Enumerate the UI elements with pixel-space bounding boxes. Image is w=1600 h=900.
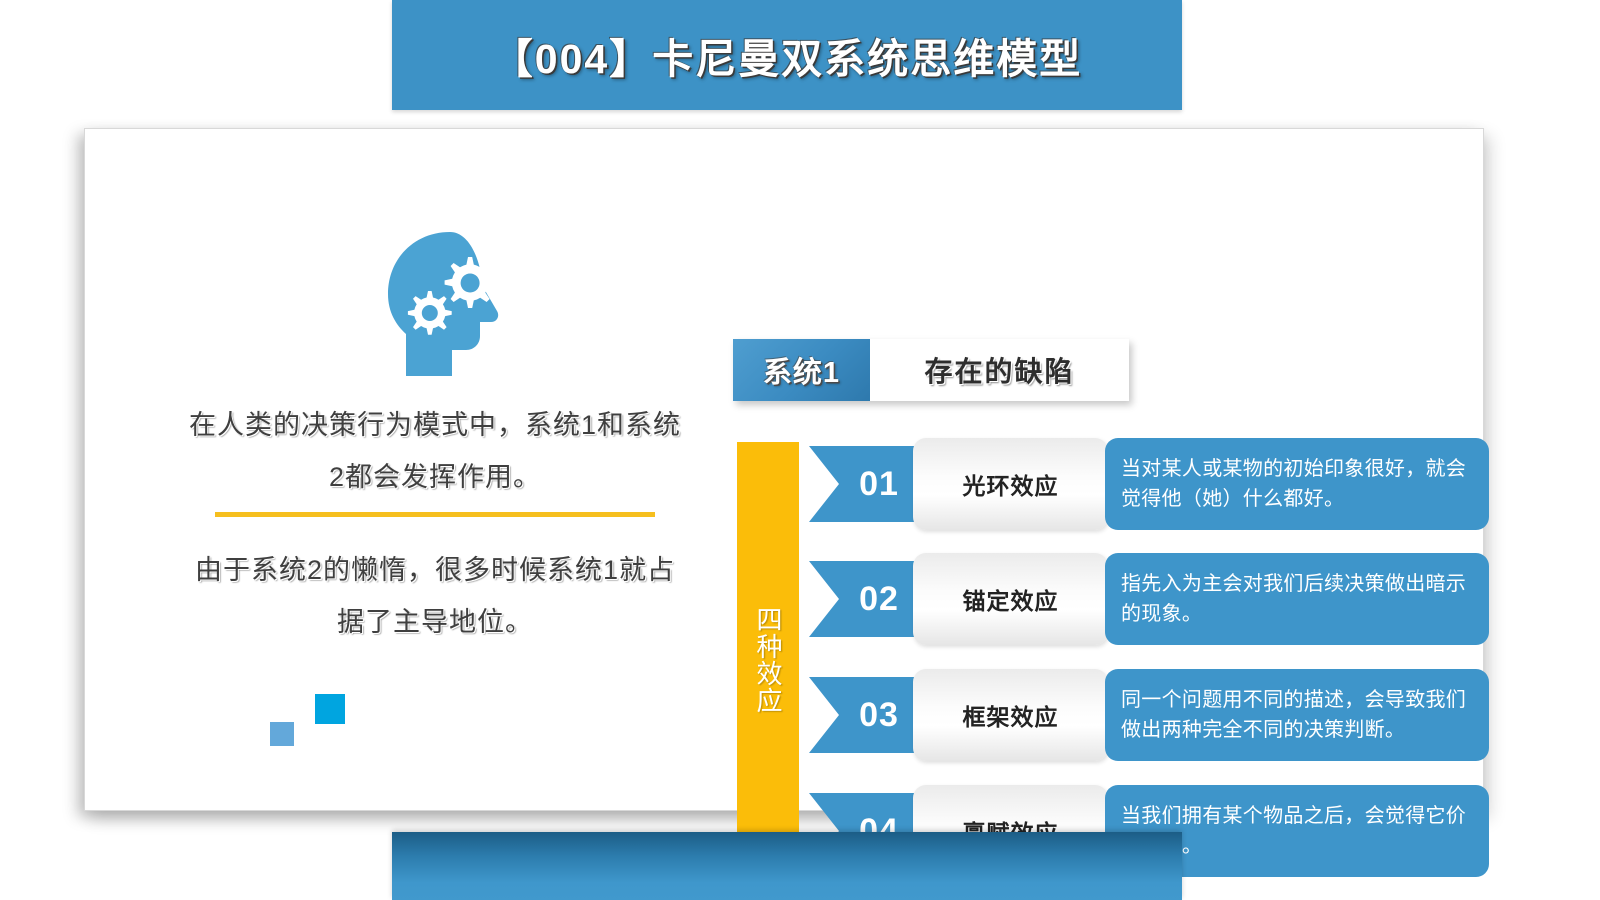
effect-description: 当对某人或某物的初始印象很好，就会觉得他（她）什么都好。 — [1121, 454, 1475, 514]
effect-label: 光环效应 — [963, 467, 1059, 501]
effect-number: 03 — [859, 696, 899, 735]
title-bar: 【004】卡尼曼双系统思维模型 — [392, 0, 1182, 110]
infographic-slide: 【004】卡尼曼双系统思维模型 在人类的决策行为模式中，系统1和系统2都会发挥作… — [0, 0, 1600, 900]
decor-square-large — [315, 694, 345, 724]
head-gears-icon — [370, 224, 530, 384]
effect-number-badge: 02 — [809, 561, 927, 637]
section-tag-label: 系统1 — [763, 349, 840, 391]
decor-square-small — [270, 722, 294, 746]
effect-label-box: 光环效应 — [913, 438, 1108, 530]
effect-number-badge: 01 — [809, 446, 927, 522]
page-title: 【004】卡尼曼双系统思维模型 — [392, 25, 1182, 85]
effect-number-badge: 03 — [809, 677, 927, 753]
effect-number: 02 — [859, 580, 899, 619]
effect-description-box: 指先入为主会对我们后续决策做出暗示的现象。 — [1105, 553, 1489, 645]
effect-description-box: 当对某人或某物的初始印象很好，就会觉得他（她）什么都好。 — [1105, 438, 1489, 530]
section-tag: 系统1 — [733, 339, 870, 401]
effect-label: 锚定效应 — [963, 582, 1059, 616]
effect-description: 同一个问题用不同的描述，会导致我们做出两种完全不同的决策判断。 — [1121, 685, 1475, 745]
section-title-label: 存在的缺陷 — [924, 350, 1074, 390]
effect-description: 指先入为主会对我们后续决策做出暗示的现象。 — [1121, 569, 1475, 629]
intro-paragraph-1: 在人类的决策行为模式中，系统1和系统2都会发挥作用。 — [185, 399, 685, 503]
group-bar: 四种效应 — [737, 442, 799, 878]
effect-label: 框架效应 — [963, 698, 1059, 732]
effect-label-box: 锚定效应 — [913, 553, 1108, 645]
effect-number: 01 — [859, 465, 899, 504]
section-header: 系统1 存在的缺陷 — [733, 339, 1129, 401]
effect-label-box: 框架效应 — [913, 669, 1108, 761]
section-title-box: 存在的缺陷 — [870, 339, 1129, 401]
divider — [215, 512, 655, 517]
footer-bar — [392, 832, 1182, 900]
left-column: 在人类的决策行为模式中，系统1和系统2都会发挥作用。 由于系统2的懒惰，很多时候… — [185, 224, 685, 764]
group-bar-label: 四种效应 — [751, 606, 785, 714]
intro-paragraph-2: 由于系统2的懒惰，很多时候系统1就占据了主导地位。 — [185, 544, 685, 648]
effect-description-box: 同一个问题用不同的描述，会导致我们做出两种完全不同的决策判断。 — [1105, 669, 1489, 761]
content-card: 在人类的决策行为模式中，系统1和系统2都会发挥作用。 由于系统2的懒惰，很多时候… — [84, 128, 1484, 811]
